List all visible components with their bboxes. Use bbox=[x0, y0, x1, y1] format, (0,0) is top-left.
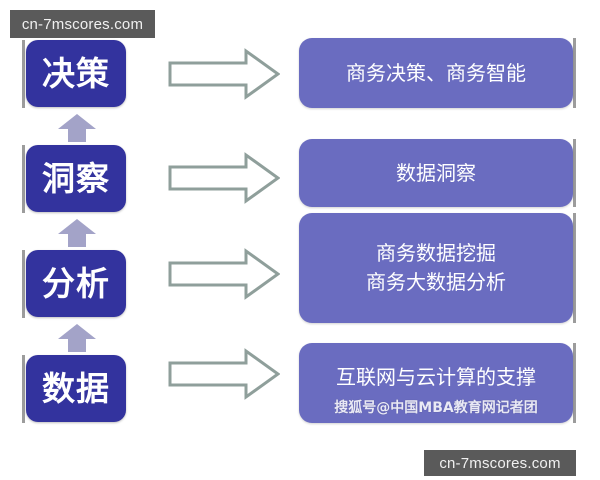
right-arrow-icon-insight bbox=[168, 152, 280, 204]
desc-rail-data-insight bbox=[573, 139, 576, 207]
stage-label-decision: 决策 bbox=[42, 57, 110, 90]
stage-rail-decision bbox=[22, 40, 25, 108]
description-line: 互联网与云计算的支撑 bbox=[336, 363, 536, 392]
stage-label-data: 数据 bbox=[42, 372, 110, 405]
inner-watermark-text: 搜狐号@中国MBA教育网记者团 bbox=[299, 397, 573, 417]
right-arrow-icon-decision bbox=[168, 48, 280, 100]
stage-box-data[interactable]: 数据 bbox=[26, 355, 126, 422]
desc-rail-internet-cloud bbox=[573, 343, 576, 423]
description-line: 商务数据挖掘 bbox=[376, 239, 496, 268]
stage-rail-insight bbox=[22, 145, 25, 213]
stage-box-analysis[interactable]: 分析 bbox=[26, 250, 126, 317]
desc-rail-data-mining bbox=[573, 213, 576, 323]
desc-rail-business-decision bbox=[573, 38, 576, 108]
description-line: 商务大数据分析 bbox=[366, 268, 506, 297]
watermark-top-left: cn-7mscores.com bbox=[10, 10, 155, 38]
right-arrow-icon-data bbox=[168, 348, 280, 400]
description-box-business-decision[interactable]: 商务决策、商务智能 bbox=[299, 38, 573, 108]
right-arrow-icon-analysis bbox=[168, 248, 280, 300]
stage-rail-analysis bbox=[22, 250, 25, 318]
stage-label-analysis: 分析 bbox=[42, 267, 110, 300]
stage-box-insight[interactable]: 洞察 bbox=[26, 145, 126, 212]
up-arrow-icon-analysis-to-insight bbox=[57, 113, 97, 143]
description-line: 商务决策、商务智能 bbox=[346, 59, 526, 88]
stage-label-insight: 洞察 bbox=[42, 162, 110, 195]
up-arrow-icon-insight-to-decision bbox=[57, 218, 97, 248]
description-line: 数据洞察 bbox=[396, 159, 476, 188]
watermark-bottom-right: cn-7mscores.com bbox=[424, 450, 576, 476]
diagram-canvas: 决策 洞察 分析 数据 bbox=[0, 0, 600, 480]
description-box-internet-cloud[interactable]: 互联网与云计算的支撑 搜狐号@中国MBA教育网记者团 bbox=[299, 343, 573, 423]
description-box-data-insight[interactable]: 数据洞察 bbox=[299, 139, 573, 207]
stage-box-decision[interactable]: 决策 bbox=[26, 40, 126, 107]
up-arrow-icon-data-to-analysis bbox=[57, 323, 97, 353]
description-box-data-mining[interactable]: 商务数据挖掘 商务大数据分析 bbox=[299, 213, 573, 323]
stage-rail-data bbox=[22, 355, 25, 423]
